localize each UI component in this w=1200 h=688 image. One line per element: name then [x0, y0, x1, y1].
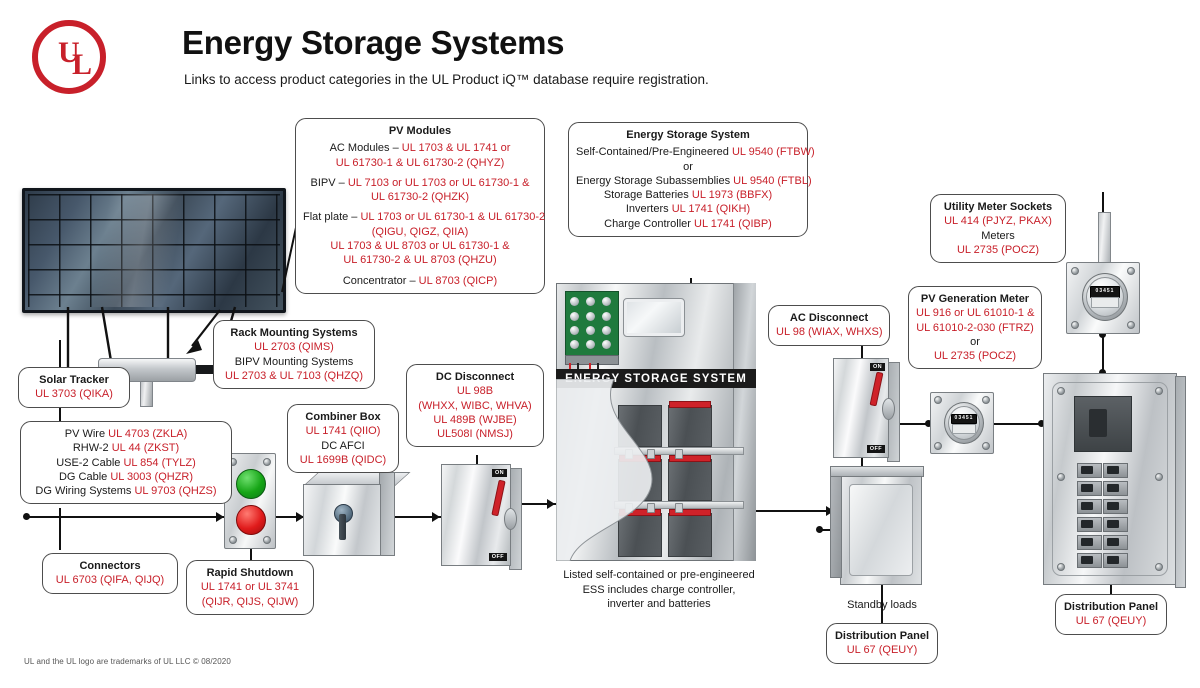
callout-line: BIPV – UL 7103 or UL 1703 or UL 61730-1 … [303, 176, 537, 190]
callout-text: DG Cable [59, 471, 110, 483]
leader-acdisc-top [861, 344, 863, 359]
callout-line: (QIGU, QIGZ, QIIA) [303, 225, 537, 239]
ul-standard-link[interactable]: UL 6703 (QIFA, QIJQ) [56, 574, 164, 586]
callout-text: Inverters [626, 203, 672, 215]
ess-note-caption: Listed self-contained or pre-engineered … [552, 568, 766, 612]
ul-standard-link[interactable]: UL 7103 or UL 1703 or UL 61730-1 & [348, 177, 530, 189]
dc-disconnect-on-label: ON [492, 469, 507, 477]
callout-text: Concentrator – [343, 275, 419, 287]
svg-text:L: L [72, 48, 92, 81]
pv-gen-meter-title: PV Generation Meter [916, 292, 1034, 306]
wire-ess-to-ac-disconnect [756, 510, 833, 512]
wire-cablebox-to-connectors [59, 508, 61, 550]
callout-line: UL 61730-2 (QHZK) [303, 190, 537, 204]
dc-disconnect-title: DC Disconnect [414, 370, 536, 384]
ul-standard-link[interactable]: UL 67 (QEUY) [847, 644, 918, 656]
callout-rapid-shutdown[interactable]: Rapid Shutdown UL 1741 or UL 3741(QIJR, … [186, 560, 314, 615]
pv-generation-meter-art: 03451 [930, 392, 994, 454]
standby-loads-cabinet-art [840, 475, 922, 585]
ess-box-body: Self-Contained/Pre-Engineered UL 9540 (F… [576, 145, 800, 231]
callout-line: UL 98B [414, 384, 536, 398]
callout-solar-tracker[interactable]: Solar Tracker UL 3703 (QIKA) [18, 367, 130, 408]
ul-standard-link[interactable]: UL 2703 (QIMS) [254, 341, 334, 353]
callout-text: Charge Controller [604, 218, 694, 230]
callout-line: Concentrator – UL 8703 (QICP) [303, 274, 537, 288]
callout-text: BIPV – [311, 177, 348, 189]
ac-disconnect-art: ON OFF [833, 358, 889, 458]
callout-text: RHW-2 [73, 442, 112, 454]
combiner-box-art [303, 484, 381, 556]
callout-text: BIPV Mounting Systems [235, 356, 354, 368]
callout-line: UL508I (NMSJ) [414, 427, 536, 441]
footer-trademark-note: UL and the UL logo are trademarks of UL … [24, 657, 231, 666]
ess-box-title: Energy Storage System [576, 128, 800, 142]
callout-line: Charge Controller UL 1741 (QIBP) [576, 217, 800, 231]
callout-line: UL 98 (WIAX, WHXS) [776, 325, 882, 339]
callout-text: or [970, 336, 980, 348]
connectors-body: UL 6703 (QIFA, QIJQ) [50, 573, 170, 587]
callout-line: USE-2 Cable UL 854 (TYLZ) [28, 456, 224, 470]
dc-disconnect-off-label: OFF [489, 553, 507, 561]
callout-text: or [683, 161, 693, 173]
callout-line: UL 67 (QEUY) [834, 643, 930, 657]
ul-standard-link[interactable]: UL 61730-2 (QHZK) [371, 191, 469, 203]
callout-line: BIPV Mounting Systems [221, 355, 367, 369]
arrow-to-pushbutton [216, 512, 224, 522]
callout-line: DG Wiring Systems UL 9703 (QHZS) [28, 484, 224, 498]
rapid-shutdown-title: Rapid Shutdown [194, 566, 306, 580]
ul-standard-link[interactable]: UL 1741 (QIIO) [306, 425, 381, 437]
dp-main-title: Distribution Panel [1063, 600, 1159, 614]
pv-modules-body: AC Modules – UL 1703 & UL 1741 orUL 6173… [303, 141, 537, 288]
callout-line: UL 67 (QEUY) [1063, 614, 1159, 628]
callout-text: DG Wiring Systems [35, 485, 134, 497]
rack-mounting-body: UL 2703 (QIMS)BIPV Mounting SystemsUL 27… [221, 340, 367, 383]
callout-dc-disconnect[interactable]: DC Disconnect UL 98B(WHXX, WIBC, WHVA)UL… [406, 364, 544, 447]
ul-standard-link[interactable]: UL 2735 (POCZ) [957, 244, 1039, 256]
utility-meter-mast-art [1098, 212, 1111, 268]
pv-gen-meter-body: UL 916 or UL 61010-1 &UL 61010-2-030 (FT… [916, 306, 1034, 363]
ac-disconnect-off-label: OFF [867, 445, 885, 453]
ac-disconnect-title: AC Disconnect [776, 311, 882, 325]
dc-disconnect-body: UL 98B(WHXX, WIBC, WHVA)UL 489B (WJBE)UL… [414, 384, 536, 441]
callout-line: Inverters UL 1741 (QIKH) [576, 202, 800, 216]
energy-storage-cabinet-art: ENERGY STORAGE SYSTEM [556, 283, 756, 561]
callout-line: or [916, 335, 1034, 349]
junction-dot-standby [816, 526, 823, 533]
callout-line: UL 2703 & UL 7103 (QHZQ) [221, 369, 367, 383]
combiner-box-body: UL 1741 (QIIO)DC AFCIUL 1699B (QIDC) [295, 424, 391, 467]
ul-standard-link[interactable]: UL 9540 (FTBL) [733, 175, 811, 187]
ac-disconnect-on-label: ON [870, 363, 885, 371]
callout-wire-cable[interactable]: PV Wire UL 4703 (ZKLA)RHW-2 UL 44 (ZKST)… [20, 421, 232, 504]
rack-mounting-title: Rack Mounting Systems [221, 326, 367, 340]
ul-standard-link[interactable]: UL 1973 (BBFX) [692, 189, 772, 201]
ul-standard-link[interactable]: UL 3703 (QIKA) [35, 388, 113, 400]
callout-line: UL 1703 & UL 8703 or UL 61730-1 & [303, 239, 537, 253]
callout-line: Flat plate – UL 1703 or UL 61730-1 & UL … [303, 210, 537, 224]
callout-text: PV Wire [65, 428, 108, 440]
distribution-panel-art [1043, 373, 1177, 585]
callout-text: DC AFCI [321, 440, 364, 452]
ul-standard-link[interactable]: (QIGU, QIGZ, QIIA) [372, 226, 469, 238]
ul-standard-link[interactable]: (WHXX, WIBC, WHVA) [418, 400, 531, 412]
callout-distribution-panel-standby[interactable]: Distribution Panel UL 67 (QEUY) [826, 623, 938, 664]
ul-standard-link[interactable]: UL 2735 (POCZ) [934, 350, 1016, 362]
callout-line: (WHXX, WIBC, WHVA) [414, 399, 536, 413]
callout-line: AC Modules – UL 1703 & UL 1741 or [303, 141, 537, 155]
ul-standard-link[interactable]: UL 854 (TYLZ) [123, 457, 195, 469]
ul-standard-link[interactable]: UL 414 (PJYZ, PKAX) [944, 215, 1052, 227]
ul-standard-link[interactable]: UL 489B (WJBE) [433, 414, 516, 426]
ul-standard-link[interactable]: UL 916 or UL 61010-1 & [916, 307, 1034, 319]
ul-standard-link[interactable]: UL 2703 & UL 7103 (QHZQ) [225, 370, 363, 382]
callout-line: UL 1699B (QIDC) [295, 453, 391, 467]
callout-line: UL 2735 (POCZ) [916, 349, 1034, 363]
wire-utilitymeter-to-panel [1102, 334, 1104, 373]
callout-line: PV Wire UL 4703 (ZKLA) [28, 427, 224, 441]
arrow-to-ess [547, 499, 555, 509]
solar-tracker-body: UL 3703 (QIKA) [26, 387, 122, 401]
junction-dot-wirebox [23, 513, 30, 520]
ac-disconnect-body: UL 98 (WIAX, WHXS) [776, 325, 882, 339]
connectors-title: Connectors [50, 559, 170, 573]
page-subtitle: Links to access product categories in th… [184, 72, 709, 87]
ul-standard-link[interactable]: UL 3003 (QHZR) [110, 471, 193, 483]
callout-text: Flat plate – [303, 211, 360, 223]
utility-meter-socket-art: 03451 [1066, 262, 1140, 334]
ul-standard-link[interactable]: UL 61730-2 & UL 8703 (QHZU) [343, 254, 496, 266]
dp-main-body: UL 67 (QEUY) [1063, 614, 1159, 628]
leader-rapid-shutdown [250, 549, 252, 560]
callout-line: DC AFCI [295, 439, 391, 453]
ul-standard-link[interactable]: UL 1741 or UL 3741 [201, 581, 299, 593]
wire-pvmeter-to-panel [994, 423, 1043, 425]
callout-line: UL 61730-1 & UL 61730-2 (QHYZ) [303, 156, 537, 170]
callout-line: UL 1741 (QIIO) [295, 424, 391, 438]
ul-standard-link[interactable]: UL 8703 (QICP) [419, 275, 497, 287]
solar-panel-art [22, 188, 286, 313]
callout-line: Self-Contained/Pre-Engineered UL 9540 (F… [576, 145, 800, 159]
ul-standard-link[interactable]: UL 1703 or UL 61730-1 & UL 61730-2 [360, 211, 545, 223]
ul-standard-link[interactable]: UL 44 (ZKST) [112, 442, 179, 454]
callout-line: UL 414 (PJYZ, PKAX) [938, 214, 1058, 228]
ul-standard-link[interactable]: UL 61730-1 & UL 61730-2 (QHYZ) [336, 157, 505, 169]
ul-standard-link[interactable]: UL 61010-2-030 (FTRZ) [916, 322, 1034, 334]
dp-standby-body: UL 67 (QEUY) [834, 643, 930, 657]
callout-pv-generation-meter[interactable]: PV Generation Meter UL 916 or UL 61010-1… [908, 286, 1042, 369]
callout-line: UL 2735 (POCZ) [938, 243, 1058, 257]
ul-standard-link[interactable]: UL 98B [457, 385, 493, 397]
callout-pv-modules[interactable]: PV Modules AC Modules – UL 1703 & UL 174… [295, 118, 545, 294]
utility-meter-title: Utility Meter Sockets [938, 200, 1058, 214]
utility-meter-register: 03451 [1090, 286, 1120, 298]
callout-line: UL 3703 (QIKA) [26, 387, 122, 401]
callout-text: Self-Contained/Pre-Engineered [576, 146, 732, 158]
dp-standby-title: Distribution Panel [834, 629, 930, 643]
callout-text: USE-2 Cable [56, 457, 123, 469]
pv-modules-title: PV Modules [303, 124, 537, 138]
wire-cable-body: PV Wire UL 4703 (ZKLA)RHW-2 UL 44 (ZKST)… [28, 427, 224, 498]
ul-standard-link[interactable]: UL 1703 & UL 8703 or UL 61730-1 & [330, 240, 509, 252]
ul-standard-link[interactable]: UL 9703 (QHZS) [134, 485, 216, 497]
callout-rack-mounting[interactable]: Rack Mounting Systems UL 2703 (QIMS)BIPV… [213, 320, 375, 389]
callout-line: UL 2703 (QIMS) [221, 340, 367, 354]
utility-meter-body: UL 414 (PJYZ, PKAX)MetersUL 2735 (POCZ) [938, 214, 1058, 257]
rapid-shutdown-body: UL 1741 or UL 3741(QIJR, QIJS, QIJW) [194, 580, 306, 609]
callout-utility-meter-sockets[interactable]: Utility Meter Sockets UL 414 (PJYZ, PKAX… [930, 194, 1066, 263]
callout-line: UL 916 or UL 61010-1 & [916, 306, 1034, 320]
callout-ac-disconnect[interactable]: AC Disconnect UL 98 (WIAX, WHXS) [768, 305, 890, 346]
callout-line: DG Cable UL 3003 (QHZR) [28, 470, 224, 484]
callout-line: UL 6703 (QIFA, QIJQ) [50, 573, 170, 587]
wire-panel-to-cablebox [59, 340, 61, 368]
ul-standard-link[interactable]: UL 9540 (FTBW) [732, 146, 815, 158]
callout-line: UL 489B (WJBE) [414, 413, 536, 427]
ul-standard-link[interactable]: UL 98 (WIAX, WHXS) [776, 326, 883, 338]
dc-disconnect-art: ON OFF [441, 464, 511, 566]
callout-text: Storage Batteries [604, 189, 692, 201]
callout-line: Storage Batteries UL 1973 (BBFX) [576, 188, 800, 202]
wire-bus-left [26, 516, 224, 518]
ul-standard-link[interactable]: UL 1741 (QIKH) [672, 203, 750, 215]
callout-text: Meters [981, 230, 1015, 242]
solar-tracker-title: Solar Tracker [26, 373, 122, 387]
ul-standard-link[interactable]: UL 1741 (QIBP) [694, 218, 772, 230]
callout-line: UL 1741 or UL 3741 [194, 580, 306, 594]
leader-standby-panel [881, 585, 883, 625]
callout-line: RHW-2 UL 44 (ZKST) [28, 441, 224, 455]
ul-logo: U L [30, 18, 108, 96]
ul-standard-link[interactable]: (QIJR, QIJS, QIJW) [202, 596, 299, 608]
callout-line: or [576, 160, 800, 174]
ul-standard-link[interactable]: UL 1699B (QIDC) [300, 454, 386, 466]
callout-connectors[interactable]: Connectors UL 6703 (QIFA, QIJQ) [42, 553, 178, 594]
callout-text: AC Modules – [330, 142, 402, 154]
callout-line: Energy Storage Subassemblies UL 9540 (FT… [576, 174, 800, 188]
arrow-to-dc-disconnect [432, 512, 440, 522]
ul-standard-link[interactable]: UL 4703 (ZKLA) [108, 428, 187, 440]
page-title: Energy Storage Systems [182, 24, 564, 62]
callout-line: Meters [938, 229, 1058, 243]
ul-standard-link[interactable]: UL 1703 & UL 1741 or [402, 142, 511, 154]
leader-utility-meter [1102, 192, 1104, 214]
callout-line: (QIJR, QIJS, QIJW) [194, 595, 306, 609]
callout-line: UL 61730-2 & UL 8703 (QHZU) [303, 253, 537, 267]
combiner-box-title: Combiner Box [295, 410, 391, 424]
callout-energy-storage-system[interactable]: Energy Storage System Self-Contained/Pre… [568, 122, 808, 237]
ul-standard-link[interactable]: UL508I (NMSJ) [437, 428, 513, 440]
callout-combiner-box[interactable]: Combiner Box UL 1741 (QIIO)DC AFCIUL 169… [287, 404, 399, 473]
callout-text: Energy Storage Subassemblies [576, 175, 733, 187]
pv-meter-register: 03451 [951, 414, 977, 424]
ul-standard-link[interactable]: UL 67 (QEUY) [1076, 615, 1147, 627]
callout-distribution-panel-main[interactable]: Distribution Panel UL 67 (QEUY) [1055, 594, 1167, 635]
callout-line: UL 61010-2-030 (FTRZ) [916, 321, 1034, 335]
